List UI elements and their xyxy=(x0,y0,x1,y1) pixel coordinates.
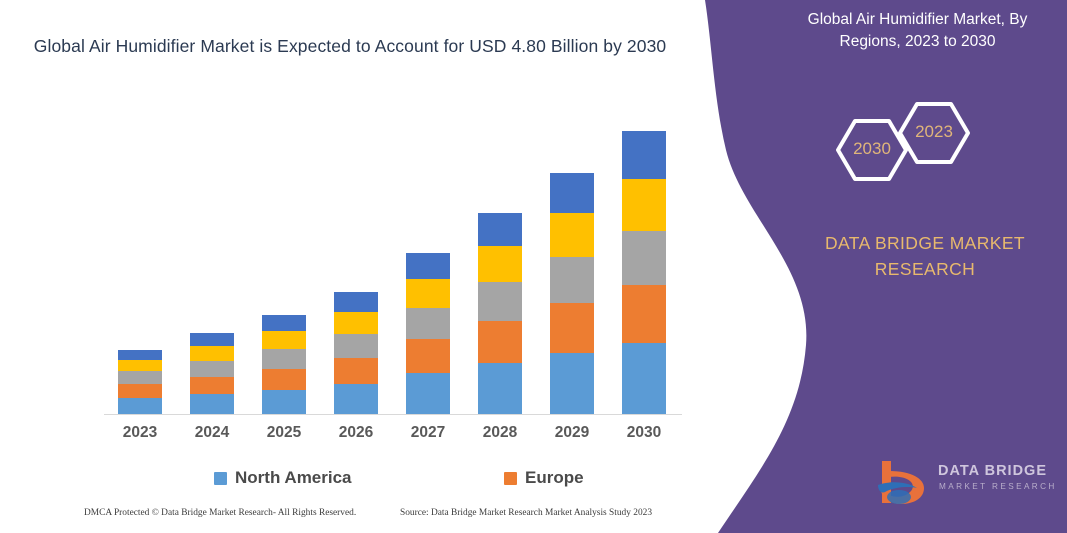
x-tick-2030: 2030 xyxy=(614,424,674,442)
company-logo: DATA BRIDGE MARKET RESEARCH xyxy=(872,455,1062,513)
bar-2023 xyxy=(118,350,162,415)
bar-segment-2023-series-4 xyxy=(118,360,162,371)
legend-swatch-icon xyxy=(214,472,227,485)
legend-label: North America xyxy=(235,468,352,488)
x-axis-line xyxy=(104,414,682,415)
footer-source: Source: Data Bridge Market Research Mark… xyxy=(400,508,652,518)
bar-segment-2027-series-4 xyxy=(406,279,450,308)
logo-text-main: DATA BRIDGE xyxy=(938,463,1047,479)
bar-segment-2023-series-5 xyxy=(118,350,162,360)
chart-title: Global Air Humidifier Market is Expected… xyxy=(30,34,670,59)
x-tick-2029: 2029 xyxy=(542,424,602,442)
bar-segment-2029-series-4 xyxy=(550,213,594,257)
x-tick-2024: 2024 xyxy=(182,424,242,442)
bar-2027 xyxy=(406,253,450,415)
brand-line-1: DATA BRIDGE MARKET xyxy=(800,230,1050,256)
bar-segment-2023-north-america xyxy=(118,398,162,415)
bar-segment-2029-north-america xyxy=(550,353,594,415)
bar-segment-2026-europe xyxy=(334,358,378,384)
bar-segment-2024-series-5 xyxy=(190,333,234,346)
hexagon-label-2030: 2030 xyxy=(845,139,899,159)
bar-segment-2030-europe xyxy=(622,285,666,343)
legend-swatch-icon xyxy=(504,472,517,485)
infographic-canvas: Global Air Humidifier Market is Expected… xyxy=(0,0,1067,533)
x-tick-2025: 2025 xyxy=(254,424,314,442)
x-tick-2026: 2026 xyxy=(326,424,386,442)
bar-segment-2029-europe xyxy=(550,303,594,353)
bar-segment-2028-series-4 xyxy=(478,246,522,282)
logo-text-sub: MARKET RESEARCH xyxy=(939,482,1057,491)
bar-segment-2026-series-5 xyxy=(334,292,378,312)
bar-segment-2024-series-3 xyxy=(190,361,234,377)
bar-segment-2025-north-america xyxy=(262,390,306,415)
brand-name: DATA BRIDGE MARKET RESEARCH xyxy=(800,230,1050,283)
bar-segment-2024-series-4 xyxy=(190,346,234,361)
bar-segment-2027-europe xyxy=(406,339,450,373)
bar-segment-2026-series-3 xyxy=(334,334,378,358)
bar-2025 xyxy=(262,315,306,415)
bar-2024 xyxy=(190,333,234,415)
bar-segment-2023-series-3 xyxy=(118,371,162,384)
bar-segment-2025-series-5 xyxy=(262,315,306,331)
bar-segment-2028-north-america xyxy=(478,363,522,415)
bar-segment-2029-series-5 xyxy=(550,173,594,213)
legend-item-europe[interactable]: Europe xyxy=(504,468,584,488)
bar-segment-2030-series-3 xyxy=(622,231,666,285)
bar-segment-2024-north-america xyxy=(190,394,234,415)
bar-segment-2024-europe xyxy=(190,377,234,394)
x-axis-tick-labels: 20232024202520262027202820292030 xyxy=(104,424,682,450)
hexagon-label-2023: 2023 xyxy=(907,122,961,142)
x-tick-2023: 2023 xyxy=(110,424,170,442)
bar-segment-2027-series-5 xyxy=(406,253,450,279)
bar-segment-2023-europe xyxy=(118,384,162,398)
x-tick-2028: 2028 xyxy=(470,424,530,442)
legend-label: Europe xyxy=(525,468,584,488)
bar-segment-2027-series-3 xyxy=(406,308,450,339)
panel-title: Global Air Humidifier Market, By Regions… xyxy=(775,0,1060,62)
footer: DMCA Protected © Data Bridge Market Rese… xyxy=(0,508,700,530)
bar-segment-2026-north-america xyxy=(334,384,378,415)
bar-segment-2025-series-4 xyxy=(262,331,306,349)
bar-segment-2030-north-america xyxy=(622,343,666,415)
legend-item-north-america[interactable]: North America xyxy=(214,468,352,488)
bar-segment-2028-series-3 xyxy=(478,282,522,321)
bar-segment-2030-series-5 xyxy=(622,131,666,179)
bar-segment-2028-series-5 xyxy=(478,213,522,246)
chart-legend: North AmericaEurope xyxy=(104,468,684,494)
footer-copyright: DMCA Protected © Data Bridge Market Rese… xyxy=(84,508,356,518)
brand-line-2: RESEARCH xyxy=(800,256,1050,282)
bar-segment-2025-series-3 xyxy=(262,349,306,369)
logo-accent xyxy=(887,490,911,504)
bar-2030 xyxy=(622,131,666,415)
x-tick-2027: 2027 xyxy=(398,424,458,442)
hexagon-badges: 2030 2023 xyxy=(818,100,1008,210)
bar-segment-2030-series-4 xyxy=(622,179,666,231)
chart-panel: Global Air Humidifier Market is Expected… xyxy=(0,0,700,533)
bar-2028 xyxy=(478,213,522,415)
bar-2029 xyxy=(550,173,594,415)
stacked-bar-chart xyxy=(104,120,680,415)
bar-segment-2028-europe xyxy=(478,321,522,363)
bar-2026 xyxy=(334,292,378,415)
bar-segment-2027-north-america xyxy=(406,373,450,415)
bar-segment-2026-series-4 xyxy=(334,312,378,334)
bar-segment-2029-series-3 xyxy=(550,257,594,303)
bar-segment-2025-europe xyxy=(262,369,306,390)
